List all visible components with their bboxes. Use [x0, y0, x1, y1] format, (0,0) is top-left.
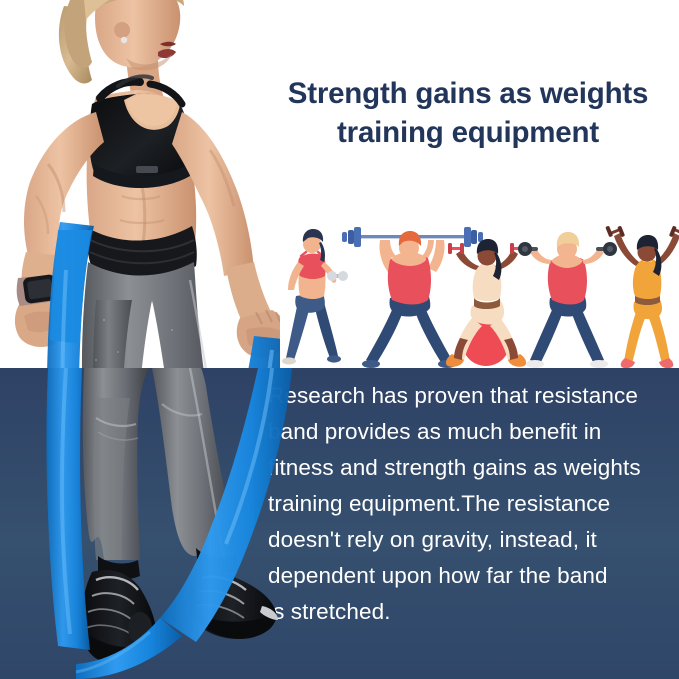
body-line-3: fitness and strength gains as weights	[268, 450, 672, 486]
body-line-6: dependent upon how far the band	[268, 558, 672, 594]
headline-line-2: training equipment	[262, 113, 674, 152]
body-line-5: doesn't rely on gravity, instead, it	[268, 522, 672, 558]
body-line-7: is stretched.	[268, 594, 672, 630]
description-panel: Research has proven that resistance band…	[0, 368, 679, 679]
body-copy: Research has proven that resistance band…	[268, 378, 672, 630]
infographic-root: Strength gains as weights training equip…	[0, 0, 679, 679]
exercise-illustration-row	[280, 218, 679, 368]
body-line-2: band provides as much benefit in	[268, 414, 672, 450]
headline: Strength gains as weights training equip…	[262, 74, 674, 152]
body-line-4: training equipment.The resistance	[268, 486, 672, 522]
body-line-1: Research has proven that resistance	[268, 378, 672, 414]
exercise-figures	[280, 218, 679, 368]
headline-line-1: Strength gains as weights	[262, 74, 674, 113]
